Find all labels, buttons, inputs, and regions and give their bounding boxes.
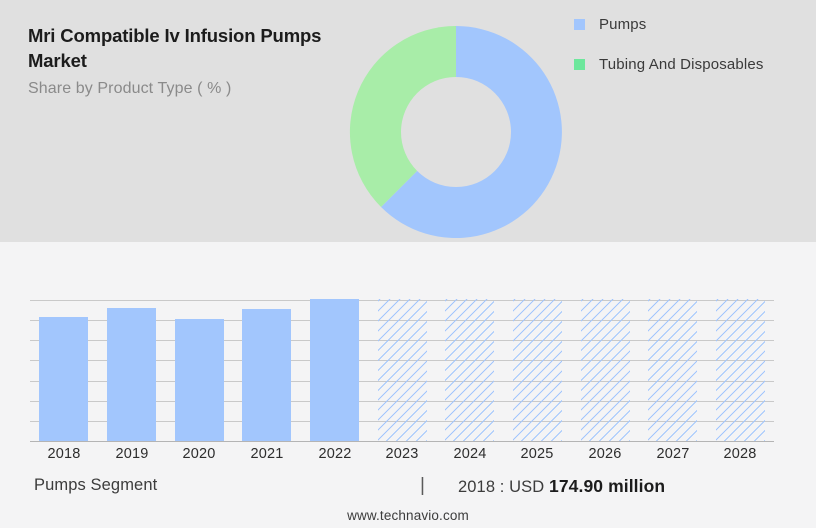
x-axis-label-2024: 2024 bbox=[436, 446, 504, 462]
bar-2021[interactable] bbox=[242, 309, 291, 441]
legend-swatch-tubing-icon bbox=[574, 59, 585, 70]
footer-summary: Pumps Segment | 2018 : USD 174.90 millio… bbox=[0, 476, 816, 508]
donut-chart bbox=[346, 26, 566, 238]
page-title: Mri Compatible Iv Infusion Pumps Market bbox=[28, 24, 358, 73]
legend-label-tubing-and-disposables: Tubing And Disposables bbox=[599, 56, 764, 73]
page-subtitle: Share by Product Type ( % ) bbox=[28, 80, 358, 98]
footer-divider: | bbox=[420, 475, 425, 497]
bar-2019[interactable] bbox=[107, 308, 156, 441]
legend: Pumps Tubing And Disposables bbox=[574, 13, 810, 93]
bar-2026[interactable] bbox=[581, 299, 630, 441]
bar-2023[interactable] bbox=[378, 299, 427, 441]
legend-label-pumps: Pumps bbox=[599, 16, 646, 33]
donut-chart-svg bbox=[346, 26, 566, 238]
x-axis-label-2019: 2019 bbox=[98, 446, 166, 462]
source-url: www.technavio.com bbox=[0, 508, 816, 523]
footer-segment-label: Pumps Segment bbox=[34, 476, 157, 495]
bar-2022[interactable] bbox=[310, 299, 359, 441]
x-axis-label-2022: 2022 bbox=[301, 446, 369, 462]
x-axis-labels: 2018201920202021202220232024202520262027… bbox=[30, 446, 774, 470]
bar-2028[interactable] bbox=[716, 299, 765, 441]
footer-value-prefix: 2018 : USD bbox=[458, 478, 549, 496]
title-block: Mri Compatible Iv Infusion Pumps Market … bbox=[28, 24, 358, 98]
footer-value: 2018 : USD 174.90 million bbox=[458, 476, 665, 497]
bar-chart-band: 2018201920202021202220232024202520262027… bbox=[0, 242, 816, 528]
x-axis-label-2026: 2026 bbox=[571, 446, 639, 462]
donut-hole bbox=[401, 77, 511, 187]
x-axis-label-2025: 2025 bbox=[503, 446, 571, 462]
legend-item-pumps[interactable]: Pumps bbox=[574, 13, 810, 35]
header-band: Mri Compatible Iv Infusion Pumps Market … bbox=[0, 0, 816, 242]
bar-2024[interactable] bbox=[445, 299, 494, 441]
x-axis-label-2021: 2021 bbox=[233, 446, 301, 462]
bar-2020[interactable] bbox=[175, 319, 224, 441]
axis-baseline bbox=[30, 441, 774, 442]
legend-swatch-pumps-icon bbox=[574, 19, 585, 30]
x-axis-label-2028: 2028 bbox=[706, 446, 774, 462]
x-axis-label-2023: 2023 bbox=[368, 446, 436, 462]
x-axis-label-2018: 2018 bbox=[30, 446, 98, 462]
bar-2025[interactable] bbox=[513, 299, 562, 441]
bar-2018[interactable] bbox=[39, 317, 88, 441]
bar-chart-plot bbox=[30, 300, 774, 442]
x-axis-label-2027: 2027 bbox=[639, 446, 707, 462]
x-axis-label-2020: 2020 bbox=[165, 446, 233, 462]
bar-2027[interactable] bbox=[648, 299, 697, 441]
footer-value-amount: 174.90 million bbox=[549, 476, 665, 496]
legend-item-tubing-and-disposables[interactable]: Tubing And Disposables bbox=[574, 53, 810, 75]
